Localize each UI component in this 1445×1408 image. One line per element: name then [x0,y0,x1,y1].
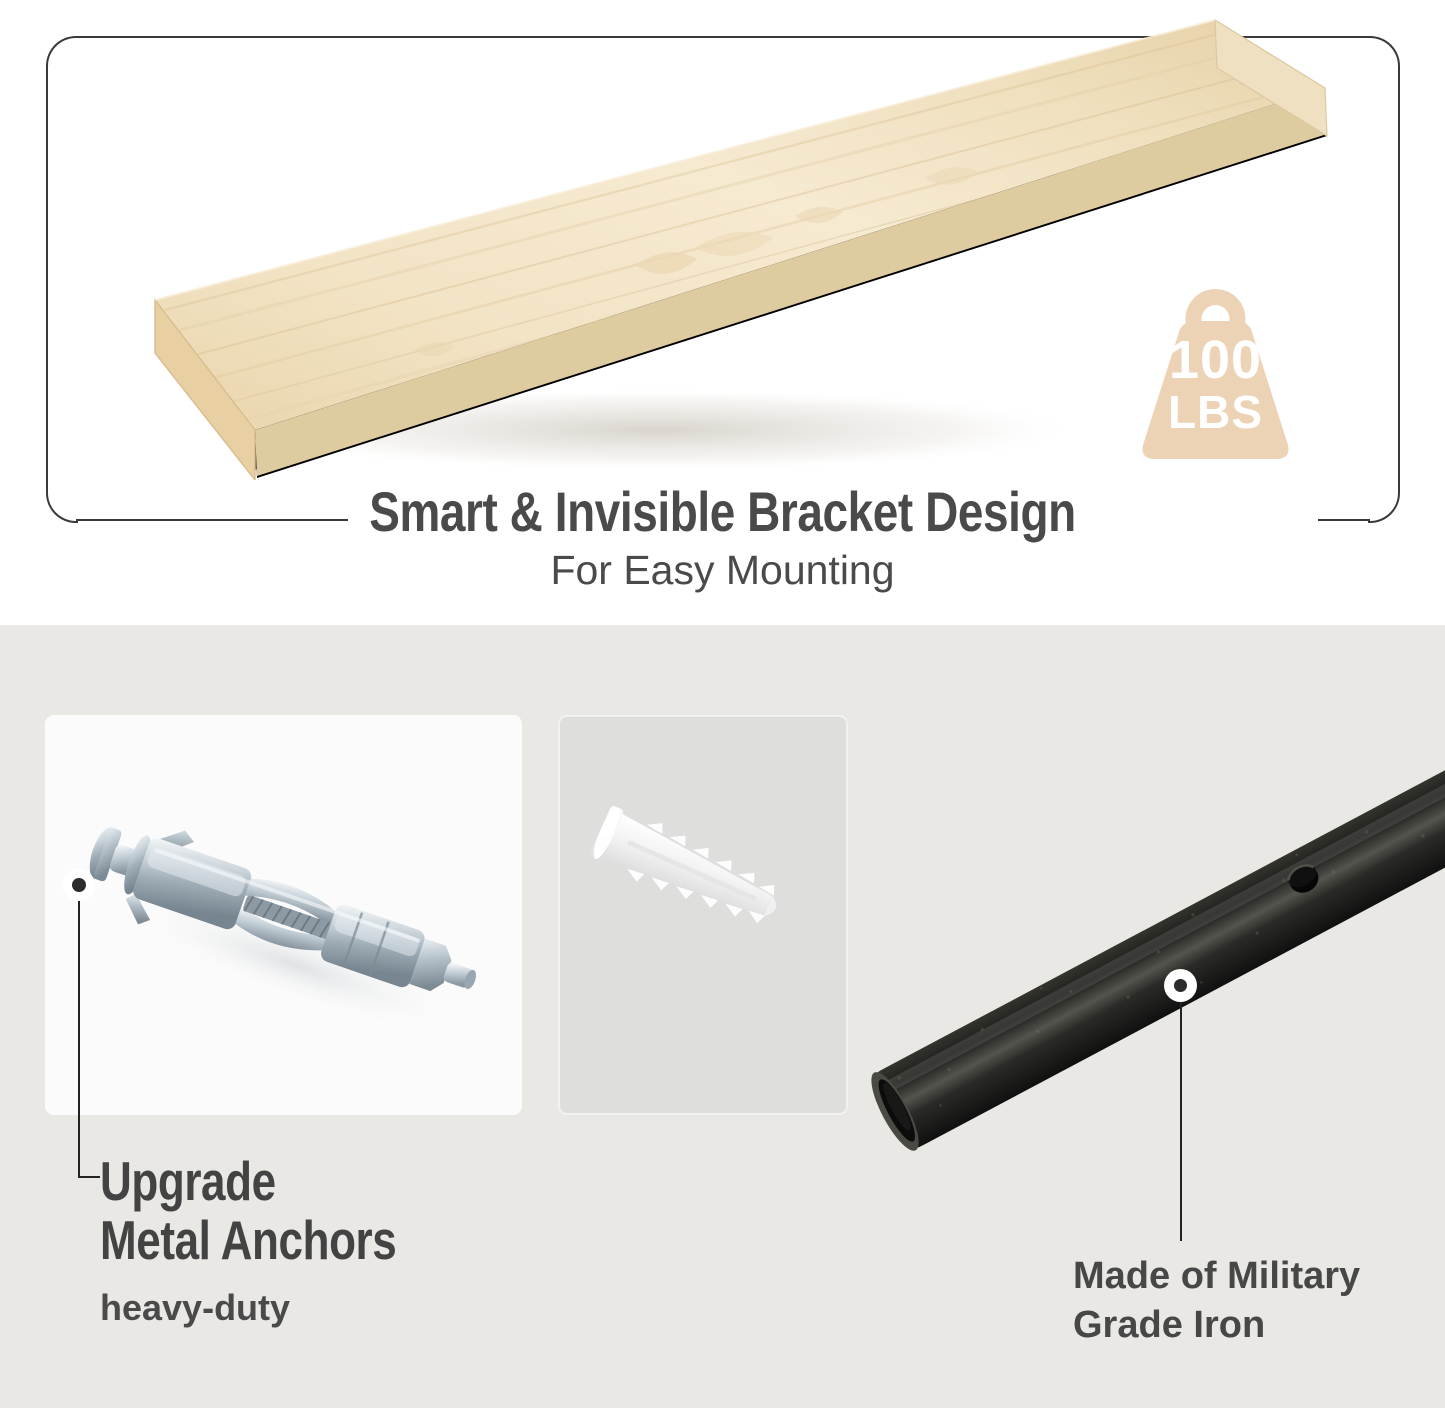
leader-line-right-vertical [1180,995,1182,1241]
page-subtitle: For Easy Mounting [0,550,1445,591]
infographic-page: 100 LBS Smart & Invisible Bracket Design… [0,0,1445,1408]
metal-anchor-panel [45,715,522,1115]
plastic-plug-panel [558,715,848,1115]
metal-anchor-subtitle: heavy-duty [100,1290,620,1326]
frame-bottom-right-edge [1318,519,1370,521]
frame-corner-bottom-left [46,491,78,523]
leader-line-left-horizontal [78,1176,100,1178]
iron-pipe-callout: Made of Military Grade Iron [1073,1252,1413,1349]
weight-unit: LBS [1128,389,1303,435]
weight-value: 100 [1128,333,1303,387]
frame-corner-bottom-right [1368,491,1400,523]
metal-anchor-title-line2: Metal Anchors [100,1211,516,1270]
frame-right-edge [1398,66,1400,491]
page-title: Smart & Invisible Bracket Design [130,484,1315,540]
top-section: 100 LBS Smart & Invisible Bracket Design… [0,0,1445,625]
iron-pipe-line2: Grade Iron [1073,1301,1413,1350]
frame-corner-top-right [1368,36,1400,68]
iron-pipe-image [840,700,1445,1260]
frame-corner-top-left [46,36,78,68]
metal-anchor-title-line1: Upgrade [100,1152,516,1211]
frame-left-edge [46,66,48,491]
metal-anchor-callout: Upgrade Metal Anchors heavy-duty [100,1152,620,1326]
callout-marker-iron-pipe [1164,969,1197,1002]
leader-line-left-vertical [78,890,80,1178]
iron-pipe-line1: Made of Military [1073,1252,1413,1301]
weight-capacity-badge: 100 LBS [1128,285,1303,465]
callout-marker-metal-anchor [63,869,95,901]
